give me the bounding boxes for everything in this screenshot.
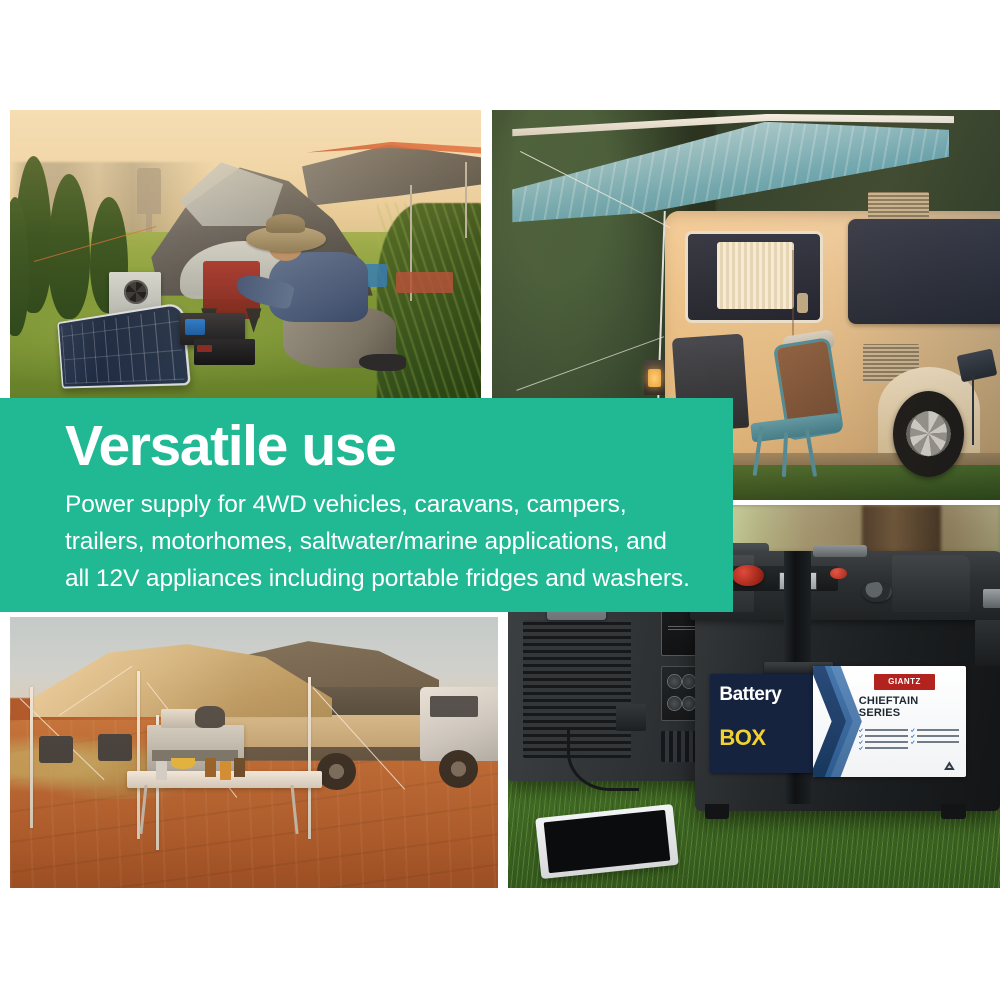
- check-icon: [911, 740, 915, 744]
- battery-box-foot: [705, 804, 730, 819]
- sunset-colour-grade: [10, 617, 498, 888]
- feature-column-left: [859, 728, 908, 750]
- giantz-brand-text: GIANTZ: [888, 677, 921, 686]
- feature-item: [911, 728, 960, 732]
- feature-list: [859, 728, 960, 750]
- giantz-brand-badge: GIANTZ: [874, 674, 935, 691]
- battery-box-side-vent: [975, 620, 1000, 666]
- lid-ridge-right: [892, 555, 971, 612]
- series-line-1: CHIEFTAIN: [859, 695, 960, 707]
- banner-body-text: Power supply for 4WD vehicles, caravans,…: [65, 486, 695, 597]
- panel-outback-camper-trailer: [10, 617, 498, 888]
- chieftain-series-label: GIANTZ CHIEFTAIN SERIES: [813, 666, 966, 777]
- feature-column-right: [911, 728, 960, 750]
- check-icon: [911, 728, 915, 732]
- feature-item: [859, 728, 908, 732]
- battery-box-foot: [941, 804, 966, 819]
- decal-line-2: BOX: [719, 727, 765, 749]
- check-icon: [859, 728, 863, 732]
- check-icon: [911, 734, 915, 738]
- red-terminal-knob: [732, 565, 764, 586]
- check-icon: [859, 734, 863, 738]
- check-icon: [859, 740, 863, 744]
- decal-line-1: Battery: [719, 685, 781, 704]
- series-line-2: SERIES: [859, 707, 960, 719]
- feature-item: [911, 740, 960, 744]
- 12v-dc-socket: [862, 582, 892, 602]
- fridge-button: [683, 697, 696, 710]
- check-icon: [859, 746, 863, 750]
- feature-item: [859, 734, 908, 738]
- banner-headline: Versatile use: [65, 414, 395, 478]
- feature-item: [859, 746, 908, 750]
- feature-item: [911, 734, 960, 738]
- sunset-colour-grade: [10, 110, 481, 400]
- panel-camping-tent-solar: [10, 110, 481, 400]
- battery-box-carry-handle: [813, 545, 867, 557]
- promotional-image-root: Battery BOX GIANTZ CHIEFTAIN SERIES: [0, 0, 1000, 1000]
- standards-compliance-icon: [944, 761, 955, 770]
- battery-box-latch: [983, 589, 1000, 608]
- fridge-button: [668, 697, 681, 710]
- feature-item: [859, 740, 908, 744]
- series-name: CHIEFTAIN SERIES: [859, 695, 960, 719]
